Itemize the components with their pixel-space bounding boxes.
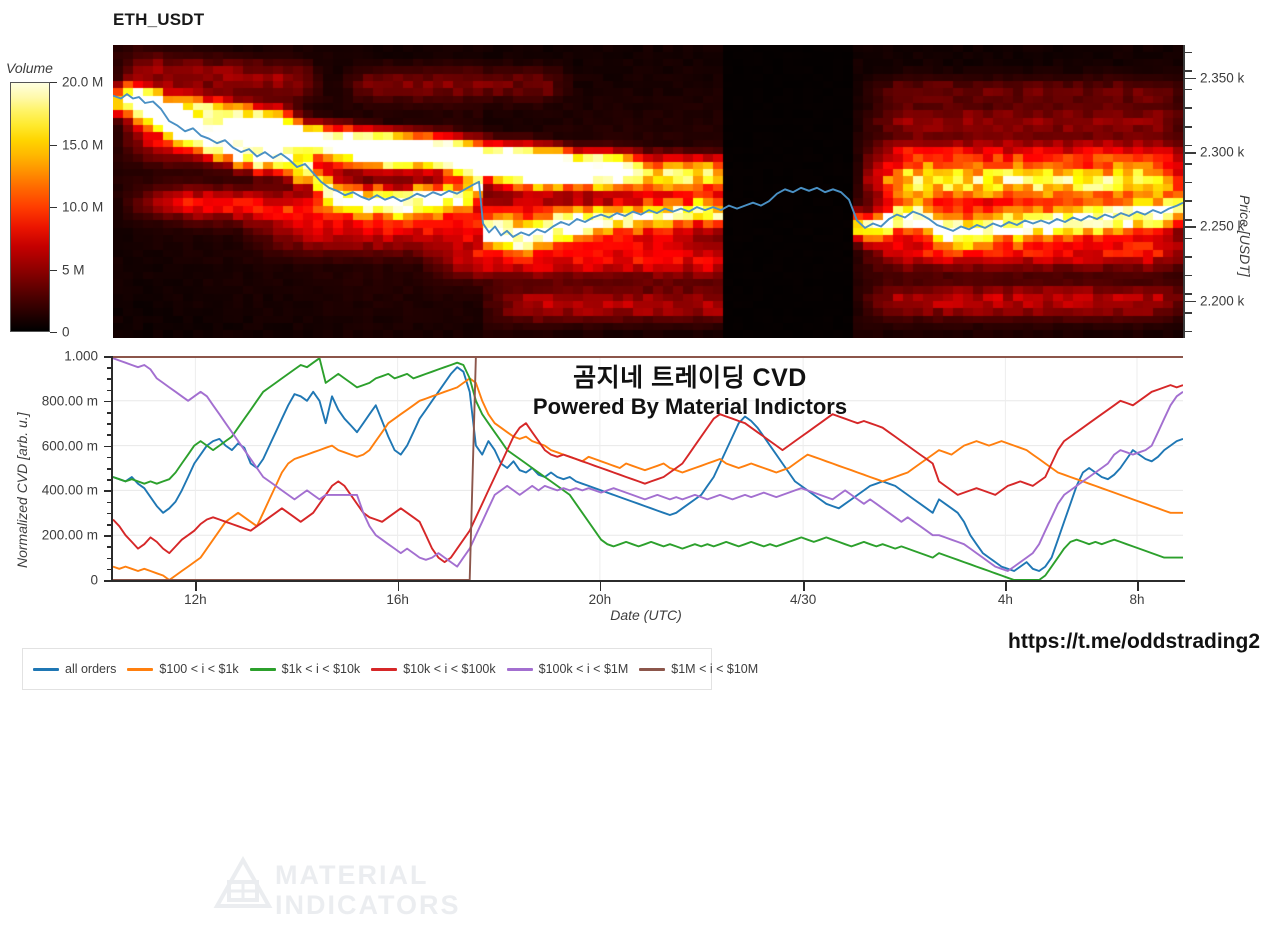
cvd-y-tick (104, 490, 113, 492)
price-axis-minor-tick (1185, 163, 1192, 165)
cvd-y-tick (104, 356, 113, 358)
cvd-x-tick-label: 8h (1129, 592, 1144, 607)
colorbar-tick-label: 0 (62, 325, 70, 340)
telegram-url[interactable]: https://t.me/oddstrading2 (1008, 630, 1260, 654)
cvd-y-minor-tick (107, 378, 113, 380)
cvd-y-tick (104, 446, 113, 448)
colorbar-gradient (10, 82, 50, 332)
legend-item-4[interactable]: $100k < i < $1M (507, 662, 629, 676)
legend-label: all orders (65, 662, 116, 676)
colorbar-tick-label: 10.0 M (62, 200, 103, 215)
liquidity-heatmap[interactable] (113, 45, 1183, 338)
watermark-logo-icon (213, 856, 273, 918)
price-axis-minor-tick (1185, 182, 1192, 184)
cvd-x-axis-spine (111, 580, 1185, 582)
price-axis-tick-label: 2.350 k (1200, 70, 1244, 85)
watermark-line2: INDICATORS (275, 890, 461, 920)
price-axis-minor-tick (1185, 89, 1192, 91)
legend-swatch-icon (371, 668, 397, 671)
cvd-x-tick (398, 582, 400, 591)
volume-colorbar: 20.0 M15.0 M10.0 M5 M0 (10, 82, 50, 332)
cvd-y-minor-tick (107, 468, 113, 470)
cvd-x-tick-label: 12h (184, 592, 207, 607)
watermark-text: MATERIAL INDICATORS (275, 860, 461, 920)
price-axis-minor-tick (1185, 219, 1192, 221)
cvd-x-tick-label: 16h (386, 592, 409, 607)
cvd-y-tick (104, 401, 113, 403)
cvd-y-minor-tick (107, 569, 113, 571)
price-axis-minor-tick (1185, 107, 1192, 109)
price-axis-minor-tick (1185, 275, 1192, 277)
price-axis-minor-tick (1185, 126, 1192, 128)
price-axis-minor-tick (1185, 52, 1192, 54)
colorbar-label: Volume (6, 60, 53, 76)
cvd-y-minor-tick (107, 558, 113, 560)
cvd-y-minor-tick (107, 423, 113, 425)
price-axis-tick (1185, 301, 1196, 303)
legend-item-2[interactable]: $1k < i < $10k (250, 662, 361, 676)
cvd-x-axis-title: Date (UTC) (610, 607, 682, 623)
cvd-y-minor-tick (107, 513, 113, 515)
colorbar-tick-label: 5 M (62, 262, 85, 277)
price-axis-tick (1185, 152, 1196, 154)
cvd-y-tick-label: 1.000 (2, 349, 98, 364)
page-title: ETH_USDT (113, 10, 204, 30)
price-axis-minor-tick (1185, 293, 1192, 295)
price-axis-tick (1185, 78, 1196, 80)
cvd-x-tick-label: 20h (589, 592, 612, 607)
price-line-path (113, 94, 1183, 237)
colorbar-tick (50, 145, 57, 146)
legend-label: $1M < i < $10M (671, 662, 758, 676)
price-axis-minor-tick (1185, 200, 1192, 202)
cvd-x-tick-label: 4/30 (790, 592, 816, 607)
price-line (113, 45, 1183, 338)
cvd-y-tick (104, 580, 113, 582)
price-axis-minor-tick (1185, 331, 1192, 333)
cvd-y-axis-title: Normalized CVD [arb. u.] (14, 412, 30, 568)
legend-swatch-icon (507, 668, 533, 671)
cvd-y-tick (104, 535, 113, 537)
legend-swatch-icon (33, 668, 59, 671)
cvd-y-minor-tick (107, 390, 113, 392)
legend-label: $100k < i < $1M (539, 662, 629, 676)
price-axis-minor-tick (1185, 312, 1192, 314)
price-axis-title: Price [USDT] (1237, 195, 1253, 277)
cvd-x-tick (195, 582, 197, 591)
material-indicators-watermark: MATERIAL INDICATORS (213, 856, 503, 926)
cvd-y-minor-tick (107, 434, 113, 436)
cvd-x-tick (1137, 582, 1139, 591)
overlay-title-korean: 곰지네 트레이딩 CVD (573, 358, 807, 394)
colorbar-tick (50, 82, 57, 83)
colorbar-tick-label: 15.0 M (62, 137, 103, 152)
cvd-x-tick-label: 4h (998, 592, 1013, 607)
legend-swatch-icon (127, 668, 153, 671)
legend-item-5[interactable]: $1M < i < $10M (639, 662, 758, 676)
legend-swatch-icon (250, 668, 276, 671)
legend-item-1[interactable]: $100 < i < $1k (127, 662, 238, 676)
colorbar-tick (50, 207, 57, 208)
colorbar-tick (50, 332, 57, 333)
cvd-x-tick (600, 582, 602, 591)
cvd-x-tick (803, 582, 805, 591)
cvd-y-tick-label: 0 (2, 573, 98, 588)
legend-label: $100 < i < $1k (159, 662, 238, 676)
cvd-x-tick (1005, 582, 1007, 591)
overlay-subtitle: Powered By Material Indictors (533, 394, 847, 420)
cvd-y-minor-tick (107, 546, 113, 548)
cvd-y-minor-tick (107, 479, 113, 481)
watermark-line1: MATERIAL (275, 860, 461, 890)
price-axis-minor-tick (1185, 256, 1192, 258)
cvd-y-minor-tick (107, 502, 113, 504)
price-axis-minor-tick (1185, 145, 1192, 147)
colorbar-tick-label: 20.0 M (62, 75, 103, 90)
price-axis-minor-tick (1185, 70, 1192, 72)
cvd-y-tick-label: 800.00 m (2, 393, 98, 408)
price-axis-tick (1185, 226, 1196, 228)
price-axis-tick-label: 2.200 k (1200, 293, 1244, 308)
price-axis-minor-tick (1185, 238, 1192, 240)
legend-item-0[interactable]: all orders (33, 662, 116, 676)
legend-label: $10k < i < $100k (403, 662, 495, 676)
price-axis-tick-label: 2.300 k (1200, 145, 1244, 160)
cvd-y-minor-tick (107, 457, 113, 459)
legend-swatch-icon (639, 668, 665, 671)
cvd-y-minor-tick (107, 412, 113, 414)
cvd-y-minor-tick (107, 367, 113, 369)
cvd-legend[interactable]: all orders$100 < i < $1k$1k < i < $10k$1… (22, 648, 712, 690)
cvd-y-minor-tick (107, 524, 113, 526)
colorbar-tick (50, 270, 57, 271)
legend-label: $1k < i < $10k (282, 662, 361, 676)
legend-item-3[interactable]: $10k < i < $100k (371, 662, 495, 676)
